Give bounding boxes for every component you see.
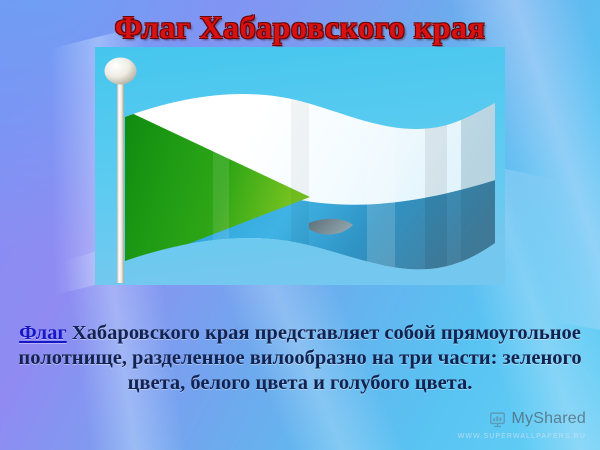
- myshared-brand-label: MyShared: [511, 410, 586, 428]
- source-url-watermark: WWW.SUPERWALLPAPERS.RU: [458, 433, 586, 440]
- flag-illustration: [95, 47, 505, 285]
- slide-body-text: Флаг Хабаровского края представляет собо…: [10, 321, 590, 396]
- slide-title: Флаг Хабаровского края: [0, 6, 600, 48]
- presentation-board-icon: [489, 411, 506, 428]
- presentation-slide: Флаг Хабаровского края: [0, 0, 600, 450]
- flag-pole-finial: [105, 58, 137, 85]
- flag-hyperlink[interactable]: Флаг: [19, 322, 67, 344]
- myshared-watermark: MyShared: [489, 410, 586, 428]
- flag-image: [95, 47, 505, 285]
- flag-pole: [117, 77, 124, 283]
- body-rest-text: Хабаровского края представляет собой пря…: [18, 322, 581, 394]
